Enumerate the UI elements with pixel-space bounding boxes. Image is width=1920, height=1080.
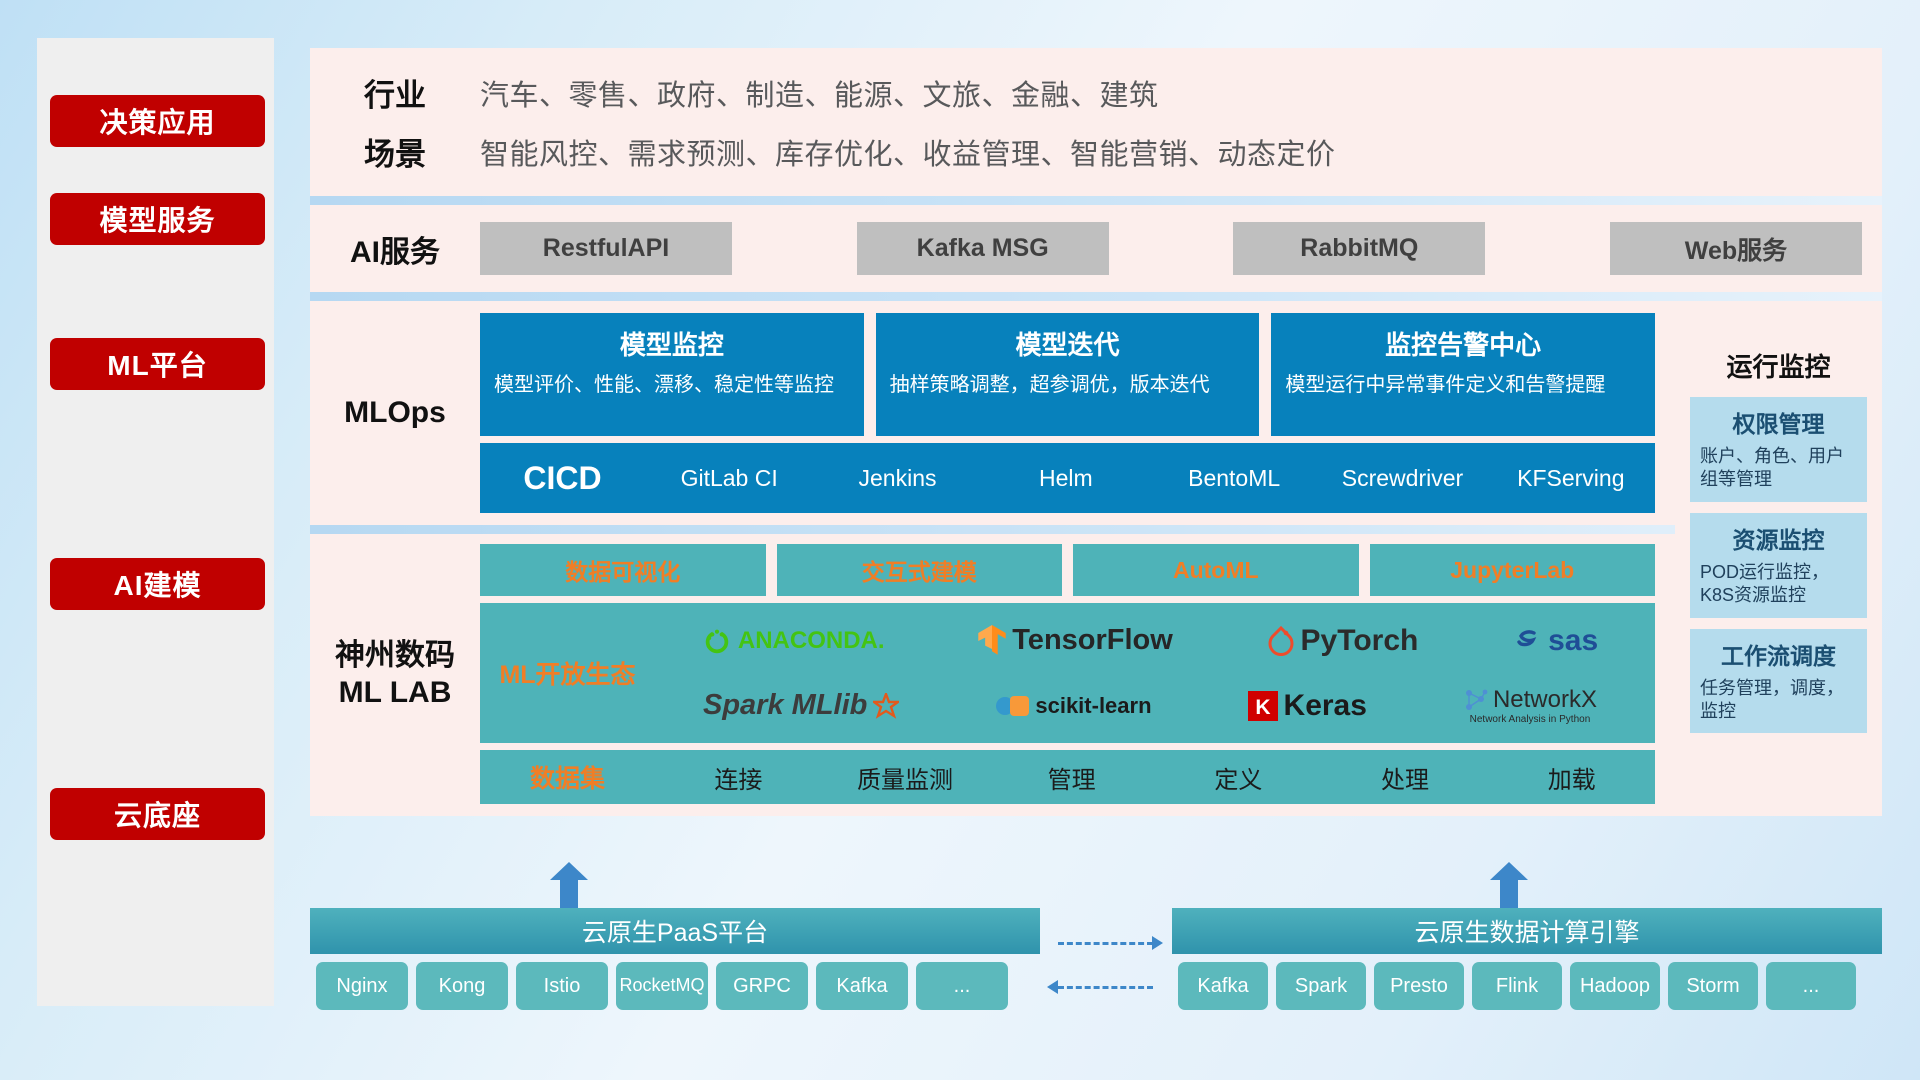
dataset-title: 数据集	[480, 759, 655, 795]
lab-tool-list: 数据可视化 交互式建模 AutoML JupyterLab	[480, 544, 1655, 596]
lab-tool-data-visualization[interactable]: 数据可视化	[480, 544, 766, 596]
left-rail: 决策应用 模型服务 ML平台 AI建模 云底座	[37, 38, 274, 1006]
sas-logo: sas	[1512, 624, 1598, 658]
card-desc: 模型评价、性能、漂移、稳定性等监控	[494, 372, 850, 398]
mlops-card-model-iteration[interactable]: 模型迭代 抽样策略调整，超参调优，版本迭代	[876, 313, 1260, 436]
compute-engine-group: 云原生数据计算引擎 Kafka Spark Presto Flink Hadoo…	[1172, 908, 1882, 1018]
dataset-item-load[interactable]: 加载	[1488, 760, 1655, 795]
paas-chip-more[interactable]: ...	[916, 962, 1008, 1010]
cicd-title: CICD	[480, 460, 645, 497]
networkx-logo: NetworkX Network Analysis in Python	[1463, 686, 1597, 725]
rail-item-model-service[interactable]: 模型服务	[50, 193, 265, 245]
paas-platform-group: 云原生PaaS平台 Nginx Kong Istio RocketMQ GRPC…	[310, 908, 1040, 1018]
dataset-item-process[interactable]: 处理	[1322, 760, 1489, 795]
eco-logo-row-2: Spark MLlib scikit-learn	[655, 674, 1645, 737]
keras-logo: K Keras	[1248, 689, 1367, 723]
rail-label: ML平台	[107, 344, 207, 384]
spark-logo-text: Spark MLlib	[703, 689, 867, 722]
networkx-logo-text: NetworkX	[1493, 686, 1597, 714]
rail-item-ml-platform[interactable]: ML平台	[50, 338, 265, 390]
compute-chip-kafka[interactable]: Kafka	[1178, 962, 1268, 1010]
cloud-base-section: 云原生PaaS平台 Nginx Kong Istio RocketMQ GRPC…	[310, 886, 1882, 1006]
compute-engine-title: 云原生数据计算引擎	[1172, 908, 1882, 954]
card-title: 模型迭代	[890, 325, 1246, 362]
rail-item-decision-apps[interactable]: 决策应用	[50, 95, 265, 147]
cicd-item-gitlab-ci[interactable]: GitLab CI	[645, 464, 813, 493]
mlops-card-model-monitoring[interactable]: 模型监控 模型评价、性能、漂移、稳定性等监控	[480, 313, 864, 436]
compute-chip-spark[interactable]: Spark	[1276, 962, 1366, 1010]
sas-logo-text: sas	[1548, 624, 1598, 658]
compute-chip-flink[interactable]: Flink	[1472, 962, 1562, 1010]
lab-tool-automl[interactable]: AutoML	[1073, 544, 1359, 596]
tensorflow-icon	[978, 625, 1006, 657]
card-title: 工作流调度	[1700, 637, 1857, 671]
ai-chip-web-service[interactable]: Web服务	[1610, 222, 1862, 275]
card-title: 资源监控	[1700, 521, 1857, 555]
ai-services-label: AI服务	[310, 227, 480, 271]
cicd-item-helm[interactable]: Helm	[982, 464, 1150, 493]
dashed-arrow-right-tip	[1152, 936, 1163, 950]
monitoring-header: 运行监控	[1726, 347, 1830, 384]
card-desc: POD运行监控，K8S资源监控	[1700, 561, 1857, 608]
scikit-learn-logo-text: scikit-learn	[1035, 693, 1151, 719]
eco-logo-row-1: ANACONDA. TensorFlow	[655, 609, 1645, 672]
mlops-body: 模型监控 模型评价、性能、漂移、稳定性等监控 模型迭代 抽样策略调整，超参调优，…	[480, 313, 1675, 513]
scikit-learn-icon	[995, 693, 1029, 719]
monitoring-card-permissions[interactable]: 权限管理 账户、角色、用户组等管理	[1690, 397, 1867, 502]
ml-lab-label: 神州数码 ML LAB	[310, 544, 480, 804]
rail-item-ai-modeling[interactable]: AI建模	[50, 558, 265, 610]
rail-label: 模型服务	[99, 199, 215, 239]
band-divider	[310, 292, 1882, 301]
card-title: 模型监控	[494, 325, 850, 362]
card-title: 权限管理	[1700, 405, 1857, 439]
networkx-icon	[1463, 687, 1489, 713]
ai-chip-restfulapi[interactable]: RestfulAPI	[480, 222, 732, 275]
ai-service-chip-list: RestfulAPI Kafka MSG RabbitMQ Web服务	[480, 222, 1882, 275]
ml-lab-label-line2: ML LAB	[339, 674, 452, 712]
spark-star-icon	[873, 693, 899, 719]
dashed-arrow-right	[1058, 942, 1153, 945]
band-ml-lab: 神州数码 ML LAB 数据可视化 交互式建模 AutoML JupyterLa…	[310, 534, 1882, 816]
arrow-up-paas-icon	[550, 862, 588, 908]
anaconda-logo: ANACONDA.	[702, 626, 885, 656]
mlops-card-alert-center[interactable]: 监控告警中心 模型运行中异常事件定义和告警提醒	[1271, 313, 1655, 436]
cicd-item-list: GitLab CI Jenkins Helm BentoML Screwdriv…	[645, 464, 1655, 493]
cicd-bar: CICD GitLab CI Jenkins Helm BentoML Scre…	[480, 443, 1655, 513]
dataset-item-connect[interactable]: 连接	[655, 760, 822, 795]
tensorflow-logo: TensorFlow	[978, 624, 1173, 657]
rail-item-cloud-base[interactable]: 云底座	[50, 788, 265, 840]
paas-platform-title: 云原生PaaS平台	[310, 908, 1040, 954]
keras-icon: K	[1248, 691, 1278, 721]
dashed-arrow-left	[1058, 986, 1153, 989]
tensorflow-logo-text: TensorFlow	[1012, 624, 1173, 657]
band-divider	[310, 525, 1882, 534]
eco-logo-grid: ANACONDA. TensorFlow	[655, 609, 1655, 737]
anaconda-logo-text: ANACONDA.	[738, 627, 885, 655]
industry-values: 汽车、零售、政府、制造、能源、文旅、金融、建筑	[480, 72, 1159, 114]
pytorch-logo-text: PyTorch	[1301, 624, 1419, 658]
paas-chip-grpc[interactable]: GRPC	[716, 962, 808, 1010]
band-divider	[310, 196, 1882, 205]
cicd-item-bentoml[interactable]: BentoML	[1150, 464, 1318, 493]
band-ai-services: AI服务 RestfulAPI Kafka MSG RabbitMQ Web服务	[310, 205, 1882, 292]
band-decision-applications: 行业 汽车、零售、政府、制造、能源、文旅、金融、建筑 场景 智能风控、需求预测、…	[310, 48, 1882, 196]
sas-icon	[1512, 626, 1542, 656]
card-desc: 模型运行中异常事件定义和告警提醒	[1285, 372, 1641, 398]
lab-tool-interactive-modeling[interactable]: 交互式建模	[777, 544, 1063, 596]
arrow-up-compute-icon	[1490, 862, 1528, 908]
networkx-logo-subtext: Network Analysis in Python	[1470, 714, 1591, 725]
cicd-item-jenkins[interactable]: Jenkins	[813, 464, 981, 493]
pytorch-icon	[1267, 626, 1295, 656]
mlops-card-list: 模型监控 模型评价、性能、漂移、稳定性等监控 模型迭代 抽样策略调整，超参调优，…	[480, 313, 1655, 436]
rail-label: 云底座	[114, 794, 201, 834]
dataset-item-list: 连接 质量监测 管理 定义 处理 加载	[655, 760, 1655, 795]
scenario-label: 场景	[310, 129, 480, 174]
keras-logo-text: Keras	[1284, 689, 1367, 723]
eco-label: ML开放生态	[480, 655, 655, 691]
svg-text:K: K	[1255, 696, 1270, 719]
anaconda-icon	[702, 626, 732, 656]
dashed-arrow-left-tip	[1047, 980, 1058, 994]
compute-chip-list: Kafka Spark Presto Flink Hadoop Storm ..…	[1172, 954, 1882, 1018]
rail-label: 决策应用	[99, 101, 215, 141]
paas-chip-istio[interactable]: Istio	[516, 962, 608, 1010]
scikit-learn-logo: scikit-learn	[995, 693, 1151, 719]
band-mlops: MLOps 模型监控 模型评价、性能、漂移、稳定性等监控 模型迭代 抽样策略调整…	[310, 301, 1882, 525]
dataset-item-manage[interactable]: 管理	[988, 760, 1155, 795]
compute-chip-more[interactable]: ...	[1766, 962, 1856, 1010]
paas-chip-list: Nginx Kong Istio RocketMQ GRPC Kafka ...	[310, 954, 1040, 1018]
rail-label: AI建模	[113, 564, 201, 604]
industry-label: 行业	[310, 70, 480, 115]
card-desc: 任务管理，调度，监控	[1700, 677, 1857, 724]
ml-lab-label-line1: 神州数码	[335, 637, 455, 675]
monitoring-card-resources[interactable]: 资源监控 POD运行监控，K8S资源监控	[1690, 513, 1867, 618]
dataset-item-define[interactable]: 定义	[1155, 760, 1322, 795]
scenario-values: 智能风控、需求预测、库存优化、收益管理、智能营销、动态定价	[480, 131, 1336, 173]
card-desc: 账户、角色、用户组等管理	[1700, 445, 1857, 492]
ai-chip-rabbitmq[interactable]: RabbitMQ	[1233, 222, 1485, 275]
paas-chip-nginx[interactable]: Nginx	[316, 962, 408, 1010]
pytorch-logo: PyTorch	[1267, 624, 1419, 658]
compute-chip-storm[interactable]: Storm	[1668, 962, 1758, 1010]
compute-chip-presto[interactable]: Presto	[1374, 962, 1464, 1010]
monitoring-card-workflow[interactable]: 工作流调度 任务管理，调度，监控	[1690, 629, 1867, 734]
ml-lab-body: 数据可视化 交互式建模 AutoML JupyterLab ML开放生态	[480, 544, 1675, 804]
cicd-item-kfserving[interactable]: KFServing	[1487, 464, 1655, 493]
compute-chip-hadoop[interactable]: Hadoop	[1570, 962, 1660, 1010]
dataset-bar: 数据集 连接 质量监测 管理 定义 处理 加载	[480, 750, 1655, 804]
scenario-row: 场景 智能风控、需求预测、库存优化、收益管理、智能营销、动态定价	[310, 129, 1882, 174]
architecture-stack: 行业 汽车、零售、政府、制造、能源、文旅、金融、建筑 场景 智能风控、需求预测、…	[310, 48, 1882, 816]
paas-chip-kafka[interactable]: Kafka	[816, 962, 908, 1010]
mlops-label: MLOps	[310, 313, 480, 513]
paas-chip-kong[interactable]: Kong	[416, 962, 508, 1010]
spark-mllib-logo: Spark MLlib	[703, 689, 899, 722]
industry-row: 行业 汽车、零售、政府、制造、能源、文旅、金融、建筑	[310, 70, 1882, 115]
lab-tool-jupyterlab[interactable]: JupyterLab	[1370, 544, 1656, 596]
paas-chip-rocketmq[interactable]: RocketMQ	[616, 962, 708, 1010]
card-desc: 抽样策略调整，超参调优，版本迭代	[890, 372, 1246, 398]
dataset-item-quality[interactable]: 质量监测	[822, 760, 989, 795]
ai-chip-kafka-msg[interactable]: Kafka MSG	[857, 222, 1109, 275]
ml-open-ecosystem: ML开放生态 ANACONDA.	[480, 603, 1655, 743]
card-title: 监控告警中心	[1285, 325, 1641, 362]
monitoring-column: 运行监控 权限管理 账户、角色、用户组等管理 资源监控 POD运行监控，K8S资…	[1675, 335, 1882, 795]
cicd-item-screwdriver[interactable]: Screwdriver	[1318, 464, 1486, 493]
